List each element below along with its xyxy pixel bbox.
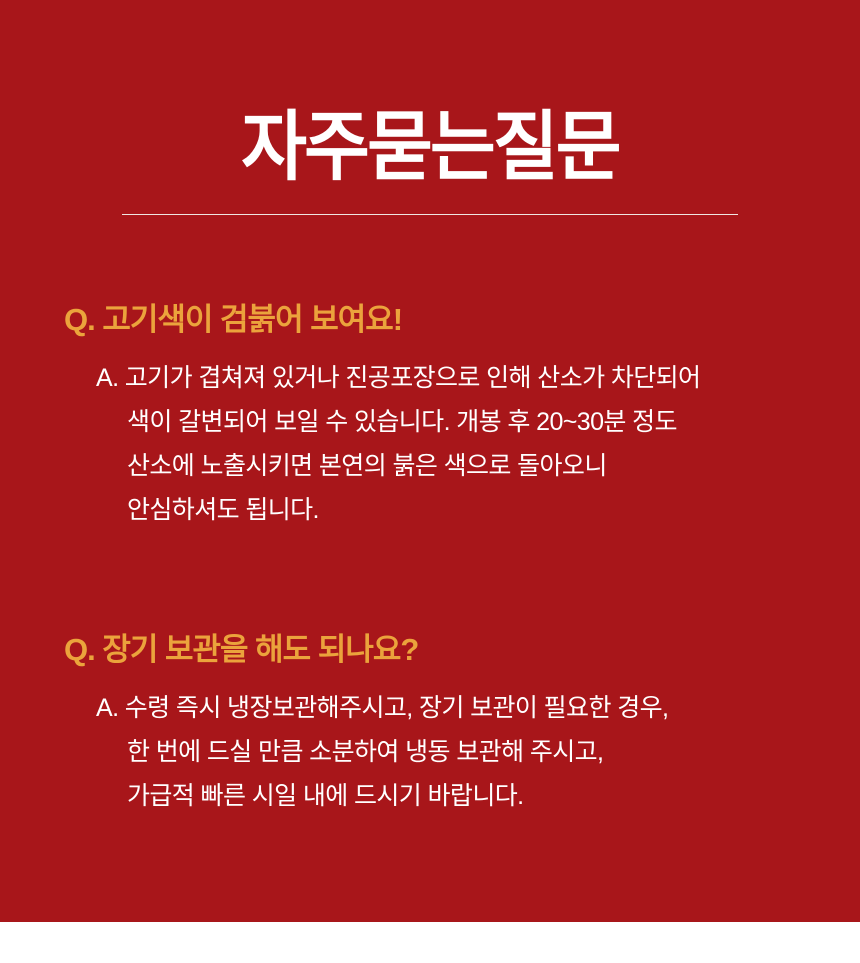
faq-answer: A. 고기가 겹쳐져 있거나 진공포장으로 인해 산소가 차단되어 색이 갈변되… bbox=[96, 356, 860, 532]
title-divider bbox=[122, 214, 738, 215]
faq-answer-line: A. 고기가 겹쳐져 있거나 진공포장으로 인해 산소가 차단되어 bbox=[96, 356, 860, 400]
faq-page: 자주묻는질문 Q. 고기색이 검붉어 보여요! A. 고기가 겹쳐져 있거나 진… bbox=[0, 0, 860, 963]
faq-answer-line: A. 수령 즉시 냉장보관해주시고, 장기 보관이 필요한 경우, bbox=[96, 686, 860, 730]
faq-question: Q. 장기 보관을 해도 되나요? bbox=[64, 630, 860, 670]
faq-item: Q. 고기색이 검붉어 보여요! A. 고기가 겹쳐져 있거나 진공포장으로 인… bbox=[0, 300, 860, 532]
faq-header: 자주묻는질문 bbox=[0, 104, 860, 192]
footer-strip bbox=[0, 922, 860, 963]
faq-answer-line: 산소에 노출시키면 본연의 붉은 색으로 돌아오니 bbox=[96, 444, 860, 488]
faq-answer-line: 가급적 빠른 시일 내에 드시기 바랍니다. bbox=[96, 774, 860, 818]
faq-answer: A. 수령 즉시 냉장보관해주시고, 장기 보관이 필요한 경우, 한 번에 드… bbox=[96, 686, 860, 818]
faq-answer-line: 색이 갈변되어 보일 수 있습니다. 개봉 후 20~30분 정도 bbox=[96, 400, 860, 444]
faq-item: Q. 장기 보관을 해도 되나요? A. 수령 즉시 냉장보관해주시고, 장기 … bbox=[0, 630, 860, 818]
faq-answer-line: 안심하셔도 됩니다. bbox=[96, 488, 860, 532]
faq-answer-line: 한 번에 드실 만큼 소분하여 냉동 보관해 주시고, bbox=[96, 730, 860, 774]
faq-question: Q. 고기색이 검붉어 보여요! bbox=[64, 300, 860, 340]
faq-red-panel: 자주묻는질문 Q. 고기색이 검붉어 보여요! A. 고기가 겹쳐져 있거나 진… bbox=[0, 0, 860, 922]
page-title: 자주묻는질문 bbox=[26, 104, 834, 192]
